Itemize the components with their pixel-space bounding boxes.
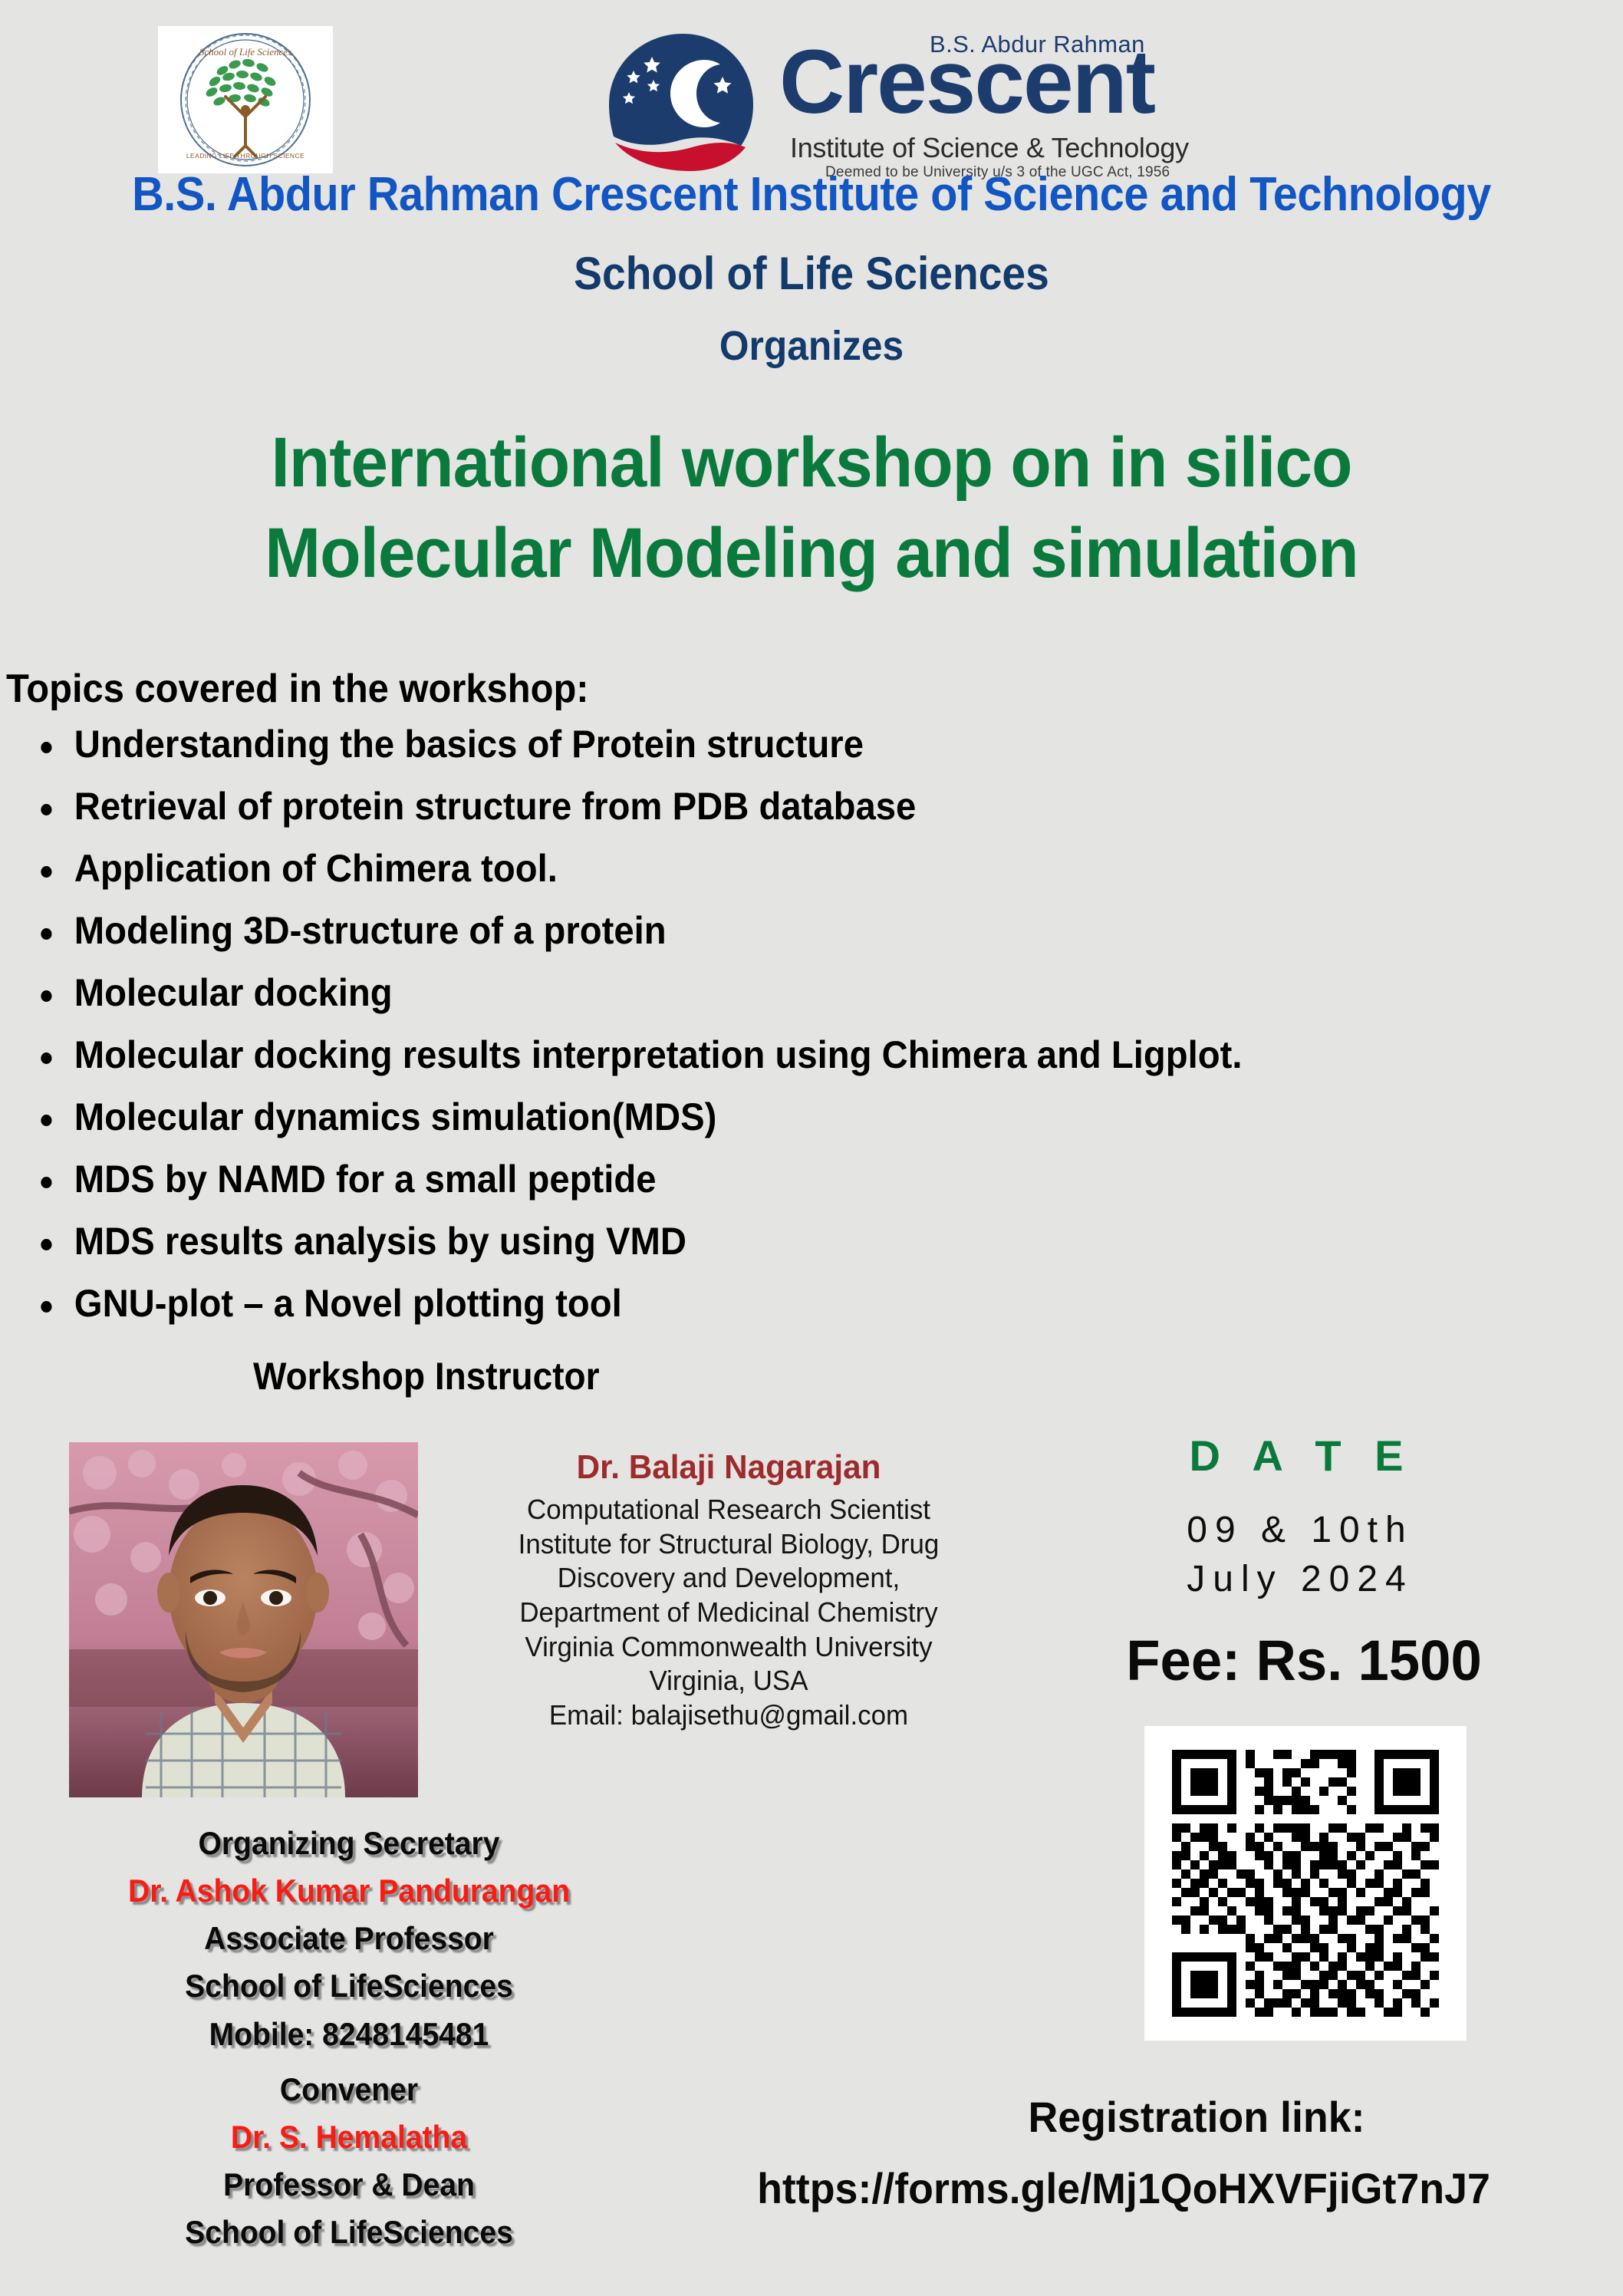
date-line-2: July 2024 <box>1104 1555 1488 1604</box>
organizes-label: Organizes <box>65 322 1559 370</box>
instructor-affiliation-line: Computational Research Scientist <box>491 1493 967 1527</box>
topic-item: Molecular dynamics simulation(MDS) <box>32 1098 1467 1136</box>
convener-designation: Professor & Dean <box>67 2161 631 2209</box>
organizing-secretary-designation: Associate Professor <box>67 1915 631 1962</box>
instructor-affiliation-line: Virginia, USA <box>491 1664 967 1698</box>
crescent-institute-logo: B.S. Abdur Rahman Crescent Institute of … <box>606 17 1151 180</box>
topic-item: Molecular docking <box>32 973 1467 1012</box>
topics-list: Understanding the basics of Protein stru… <box>32 725 1551 1346</box>
svg-text:LEADING LIFE THROUGH SCIENCE: LEADING LIFE THROUGH SCIENCE <box>186 152 305 160</box>
qr-code-image[interactable] <box>1172 1750 1439 2017</box>
instructor-name: Dr. Balaji Nagarajan <box>493 1448 964 1487</box>
logo-wordmark: Crescent <box>779 37 1154 127</box>
logo-subtitle: Institute of Science & Technology <box>790 132 1189 164</box>
convener-school: School of LifeSciences <box>67 2209 631 2256</box>
topic-item: Modeling 3D-structure of a protein <box>32 911 1467 950</box>
instructor-affiliation-line: Virginia Commonwealth University <box>491 1630 967 1665</box>
registration-qr-code[interactable] <box>1144 1726 1467 2041</box>
fee-amount: Fee: Rs. 1500 <box>1078 1628 1529 1693</box>
instructor-affiliation-line: Institute for Structural Biology, Drug <box>491 1527 967 1562</box>
school-name: School of Life Sciences <box>65 247 1559 300</box>
topic-item: Molecular docking results interpretation… <box>32 1036 1467 1074</box>
registration-label: Registration link: <box>799 2092 1595 2142</box>
instructor-heading: Workshop Instructor <box>253 1354 600 1398</box>
topic-item: Application of Chimera tool. <box>32 849 1467 888</box>
instructor-photo <box>69 1442 418 1797</box>
topic-item: Understanding the basics of Protein stru… <box>32 725 1467 763</box>
instructor-email: Email: balajisethu@gmail.com <box>491 1698 967 1733</box>
date-line-1: 09 & 10th <box>1104 1506 1488 1555</box>
convener-role: Convener <box>67 2066 631 2113</box>
logo-row: School of Life Sciences LEADING LIFE THR… <box>0 17 1623 182</box>
workshop-title-line2: Molecular Modeling and simulation <box>41 509 1582 599</box>
crescent-wordmark-block: B.S. Abdur Rahman Crescent Institute of … <box>759 17 1151 180</box>
institute-name: B.S. Abdur Rahman Crescent Institute of … <box>57 167 1566 222</box>
topic-item: Retrieval of protein structure from PDB … <box>32 787 1467 825</box>
svg-text:School of Life Sciences: School of Life Sciences <box>199 46 291 58</box>
organizing-secretary-block: Organizing Secretary Dr. Ashok Kumar Pan… <box>46 1820 652 2058</box>
organizing-secretary-role: Organizing Secretary <box>67 1820 631 1867</box>
instructor-portrait-image <box>69 1442 418 1797</box>
workshop-title: International workshop on in silico Mole… <box>41 418 1582 599</box>
topic-item: MDS results analysis by using VMD <box>32 1222 1467 1260</box>
instructor-details: Dr. Balaji Nagarajan Computational Resea… <box>483 1448 974 1732</box>
date-value: 09 & 10th July 2024 <box>1104 1506 1488 1604</box>
date-label: D A T E <box>1104 1431 1488 1481</box>
life-sciences-seal-icon: School of Life Sciences LEADING LIFE THR… <box>169 31 322 169</box>
instructor-affiliation-line: Discovery and Development, <box>491 1561 967 1596</box>
topic-item: GNU-plot – a Novel plotting tool <box>32 1284 1467 1323</box>
convener-block: Convener Dr. S. Hemalatha Professor & De… <box>46 2066 652 2257</box>
instructor-affiliation-line: Department of Medicinal Chemistry <box>491 1596 967 1630</box>
convener-name: Dr. S. Hemalatha <box>67 2113 631 2161</box>
organizing-secretary-mobile: Mobile: 8248145481 <box>67 2011 631 2058</box>
topics-heading: Topics covered in the workshop: <box>6 666 589 712</box>
workshop-title-line1: International workshop on in silico <box>41 418 1582 509</box>
topic-item: MDS by NAMD for a small peptide <box>32 1160 1467 1198</box>
workshop-poster: School of Life Sciences LEADING LIFE THR… <box>0 0 1623 2296</box>
organizing-secretary-school: School of LifeSciences <box>67 1962 631 2010</box>
organizing-secretary-name: Dr. Ashok Kumar Pandurangan <box>67 1867 631 1915</box>
registration-url[interactable]: https://forms.gle/Mj1QoHXVFjiGt7nJ7 <box>656 2163 1591 2213</box>
school-of-life-sciences-logo: School of Life Sciences LEADING LIFE THR… <box>158 26 333 173</box>
crescent-moon-stars-icon <box>606 31 759 173</box>
